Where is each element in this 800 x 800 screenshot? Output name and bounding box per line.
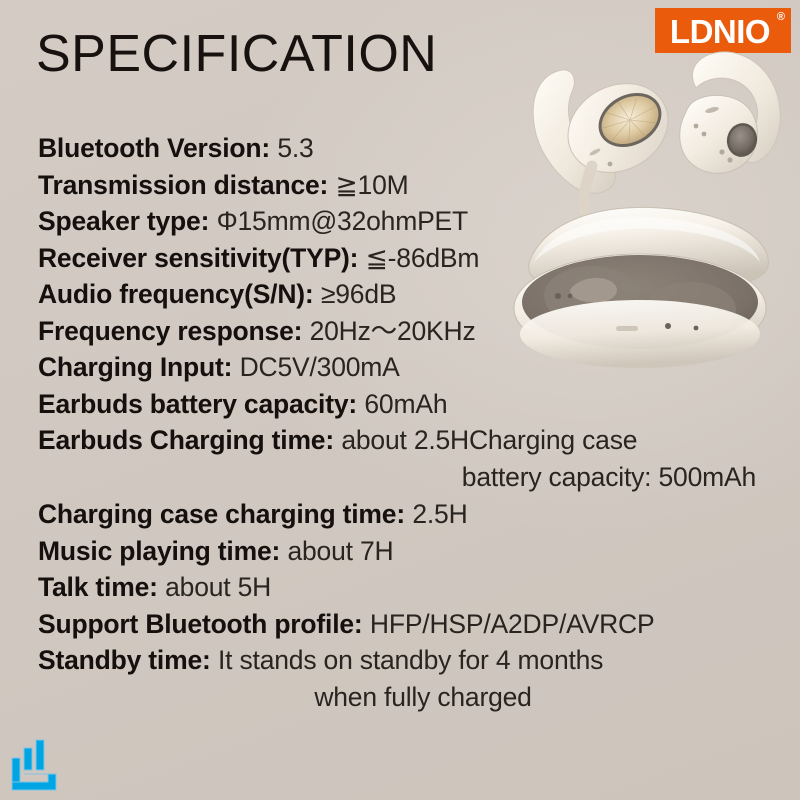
spec-value: 60mAh: [364, 389, 447, 419]
spec-row-receiver-sensitivity: Receiver sensitivity(TYP): ≦-86dBm: [38, 240, 768, 277]
spec-label: Frequency response:: [38, 316, 302, 346]
spec-label: Speaker type:: [38, 206, 209, 236]
spec-label: Talk time:: [38, 572, 158, 602]
spec-row-charging-input: Charging Input: DC5V/300mA: [38, 349, 768, 386]
page-title: SPECIFICATION: [36, 28, 437, 80]
specification-poster: LDNIO ®: [0, 0, 800, 800]
spec-value: about 2.5HCharging case: [341, 425, 637, 455]
spec-label: Audio frequency(S/N):: [38, 279, 314, 309]
spec-label: Support Bluetooth profile:: [38, 609, 363, 639]
spec-row-transmission-distance: Transmission distance: ≧10M: [38, 167, 768, 204]
spec-row-charging-case-battery-capacity: battery capacity: 500mAh: [38, 459, 768, 496]
spec-row-standby-time: Standby time: It stands on standby for 4…: [38, 642, 768, 679]
spec-label: Music playing time:: [38, 536, 280, 566]
spec-label: Transmission distance:: [38, 170, 328, 200]
spec-label: Earbuds battery capacity:: [38, 389, 357, 419]
spec-row-bluetooth-version: Bluetooth Version: 5.3: [38, 130, 768, 167]
spec-value: HFP/HSP/A2DP/AVRCP: [370, 609, 655, 639]
spec-label: Charging case charging time:: [38, 499, 405, 529]
spec-row-talk-time: Talk time: about 5H: [38, 569, 768, 606]
bar-chart-hook-icon: [10, 736, 62, 792]
spec-row-support-bluetooth-profile: Support Bluetooth profile: HFP/HSP/A2DP/…: [38, 606, 768, 643]
spec-value: ≧10M: [336, 170, 409, 200]
registered-trademark-icon: ®: [777, 12, 785, 23]
spec-value: ≦-86dBm: [366, 243, 480, 273]
spec-label: Standby time:: [38, 645, 211, 675]
spec-row-standby-time-continuation: when fully charged: [38, 679, 768, 716]
watermark-logo: [10, 736, 62, 792]
spec-value: about 7H: [287, 536, 393, 566]
spec-label: Receiver sensitivity(TYP):: [38, 243, 358, 273]
spec-value: It stands on standby for 4 months: [218, 645, 603, 675]
spec-label: Charging Input:: [38, 352, 232, 382]
spec-value: about 5H: [165, 572, 271, 602]
spec-row-music-playing-time: Music playing time: about 7H: [38, 533, 768, 570]
spec-label: Bluetooth Version:: [38, 133, 270, 163]
spec-label: Earbuds Charging time:: [38, 425, 334, 455]
spec-value: Φ15mm@32ohmPET: [217, 206, 468, 236]
specification-list: Bluetooth Version: 5.3 Transmission dist…: [38, 130, 768, 715]
brand-logo: LDNIO ®: [655, 8, 791, 53]
brand-logo-text: LDNIO: [670, 15, 770, 48]
spec-value: 20Hz～20KHz: [310, 316, 476, 346]
spec-row-charging-case-charging-time: Charging case charging time: 2.5H: [38, 496, 768, 533]
spec-row-earbuds-battery-capacity: Earbuds battery capacity: 60mAh: [38, 386, 768, 423]
spec-row-frequency-response: Frequency response: 20Hz～20KHz: [38, 313, 768, 350]
spec-value: ≥96dB: [321, 279, 396, 309]
spec-row-audio-frequency: Audio frequency(S/N): ≥96dB: [38, 276, 768, 313]
spec-value: 2.5H: [412, 499, 467, 529]
spec-value: 5.3: [277, 133, 313, 163]
spec-row-speaker-type: Speaker type: Φ15mm@32ohmPET: [38, 203, 768, 240]
spec-value: DC5V/300mA: [240, 352, 400, 382]
spec-row-earbuds-charging-time: Earbuds Charging time: about 2.5HChargin…: [38, 422, 768, 459]
